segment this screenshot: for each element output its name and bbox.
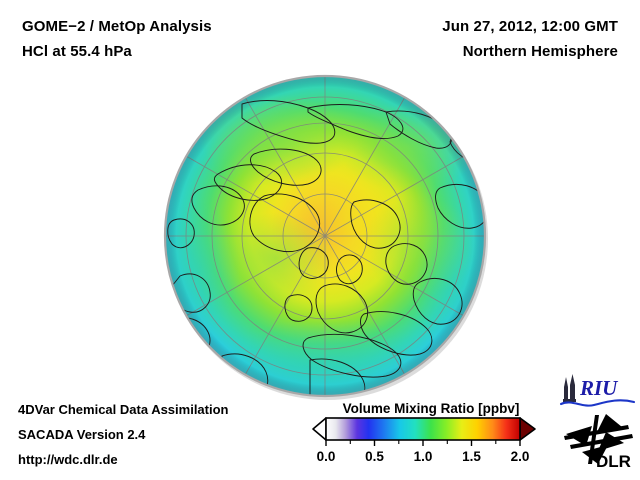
limb-shading xyxy=(165,76,485,396)
colorbar-gradient-bar xyxy=(326,418,520,440)
footer-link[interactable]: http://wdc.dlr.de xyxy=(18,452,118,467)
colorbar-svg: 0.0 0.5 1.0 1.5 2.0 xyxy=(306,416,542,466)
colorbar: 0.0 0.5 1.0 1.5 2.0 xyxy=(306,416,542,466)
footer-line-2: SACADA Version 2.4 xyxy=(18,427,145,442)
colorbar-tick-label: 1.0 xyxy=(414,449,433,464)
colorbar-ticks xyxy=(326,440,520,446)
globe-map xyxy=(158,70,494,404)
region-label: Northern Hemisphere xyxy=(463,43,618,60)
colorbar-over-arrow xyxy=(520,418,535,440)
globe-svg xyxy=(158,70,494,404)
footer-line-1: 4DVar Chemical Data Assimilation xyxy=(18,402,229,417)
colorbar-tick-label: 2.0 xyxy=(511,449,530,464)
colorbar-tick-label: 0.5 xyxy=(365,449,384,464)
figure-canvas: GOME−2 / MetOp Analysis HCl at 55.4 hPa … xyxy=(0,0,640,480)
riu-logo-svg: RIU xyxy=(558,371,638,411)
page-title: GOME−2 / MetOp Analysis xyxy=(22,18,212,35)
colorbar-tick-label: 1.5 xyxy=(462,449,481,464)
colorbar-title: Volume Mixing Ratio [ppbv] xyxy=(328,401,534,416)
datetime-label: Jun 27, 2012, 12:00 GMT xyxy=(442,18,618,35)
dlr-wordmark: DLR xyxy=(596,452,631,470)
colorbar-tick-label: 0.0 xyxy=(317,449,336,464)
dlr-logo-svg: DLR xyxy=(562,412,638,470)
riu-wordmark: RIU xyxy=(579,376,619,400)
colorbar-under-arrow xyxy=(313,418,326,440)
species-subtitle: HCl at 55.4 hPa xyxy=(22,43,132,60)
riu-logo: RIU xyxy=(558,371,638,411)
cathedral-icon xyxy=(563,374,576,402)
dlr-logo: DLR xyxy=(562,412,638,470)
